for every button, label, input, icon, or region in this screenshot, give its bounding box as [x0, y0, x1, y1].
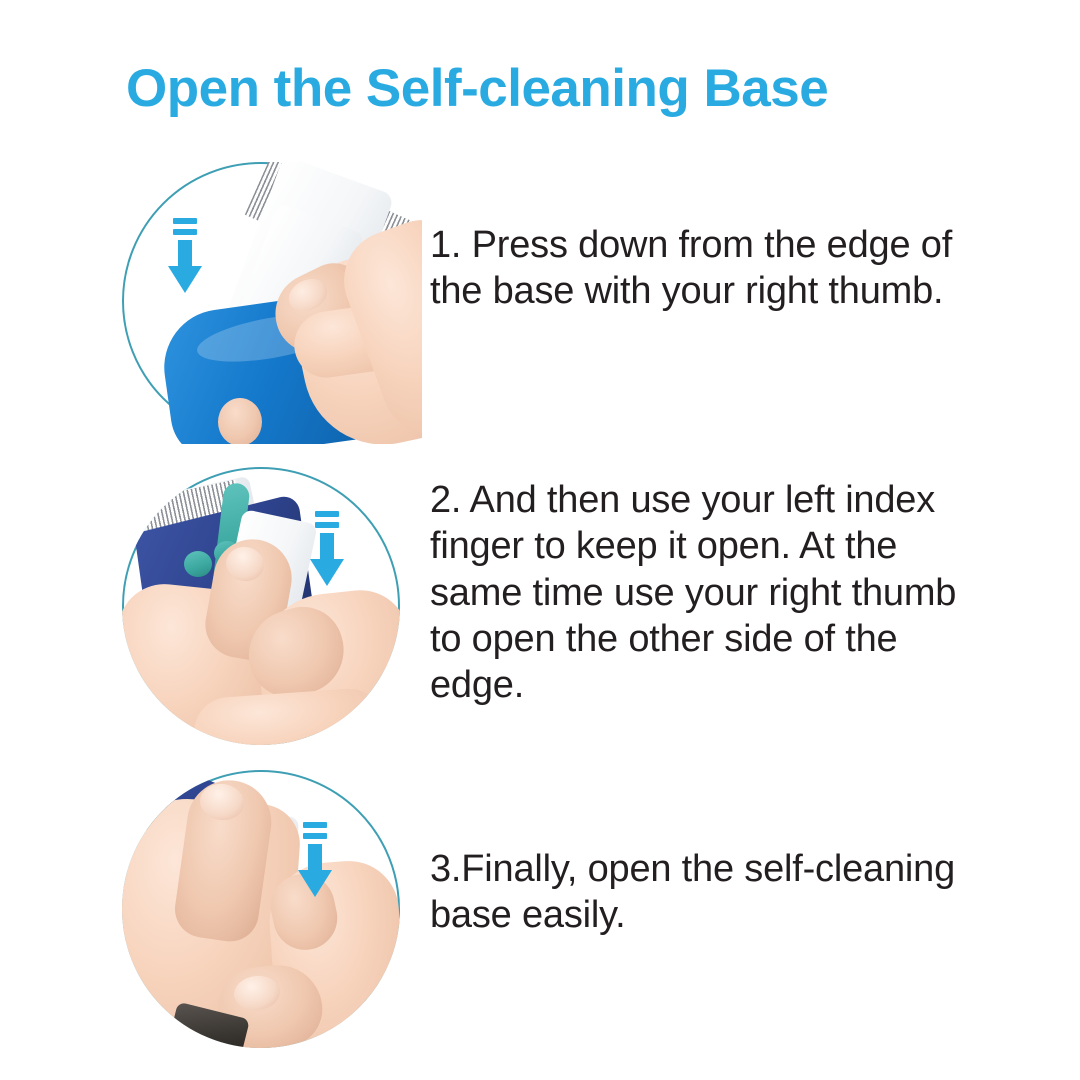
- step-row-2: 2. And then use your left index finger t…: [0, 455, 1080, 755]
- step-2-photo-circle: [122, 467, 400, 745]
- finger-tip-bottom: [218, 398, 262, 444]
- step-row-1: 1. Press down from the edge of the base …: [0, 150, 1080, 450]
- step-2-text: 2. And then use your left index finger t…: [430, 477, 990, 709]
- step-2-photo: [122, 467, 400, 745]
- down-arrow-icon: [168, 218, 202, 294]
- step-3-photo-circle: [122, 770, 400, 1048]
- teal-dot-1: [184, 551, 212, 577]
- down-arrow-icon: [298, 822, 332, 898]
- step-1-photo: [122, 162, 422, 444]
- step-1-text: 1. Press down from the edge of the base …: [430, 222, 990, 315]
- page-title: Open the Self-cleaning Base: [126, 60, 986, 118]
- step-1-photo-circle: [122, 162, 400, 440]
- step-3-photo: [122, 770, 400, 1048]
- down-arrow-icon: [310, 511, 344, 587]
- step-row-3: 3.Finally, open the self-cleaning base e…: [0, 758, 1080, 1058]
- step-3-text: 3.Finally, open the self-cleaning base e…: [430, 846, 990, 939]
